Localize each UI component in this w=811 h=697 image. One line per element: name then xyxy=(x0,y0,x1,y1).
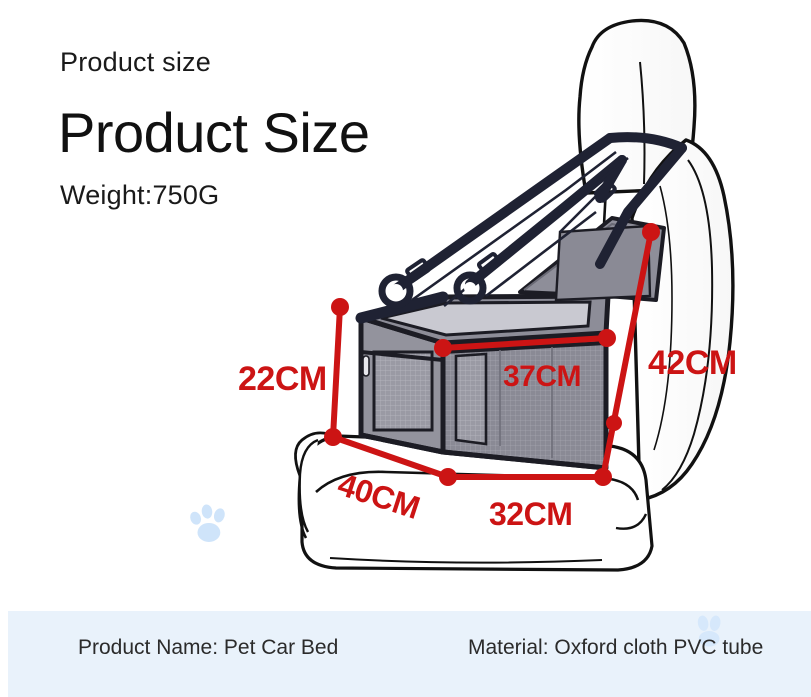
dimension-label-37cm: 37CM xyxy=(503,360,581,394)
dimension-label-42cm: 42CM xyxy=(648,344,737,383)
dimension-line-22cm xyxy=(333,307,340,437)
dimension-label-22cm: 22CM xyxy=(238,360,327,399)
paw-print-icon xyxy=(188,504,226,542)
footer-product-name: Product Name: Pet Car Bed xyxy=(78,636,338,660)
footer-material: Material: Oxford cloth PVC tube xyxy=(468,636,763,660)
dimension-label-32cm: 32CM xyxy=(489,496,572,533)
infographic-canvas: Product size Product Size Weight:750G xyxy=(0,0,811,697)
